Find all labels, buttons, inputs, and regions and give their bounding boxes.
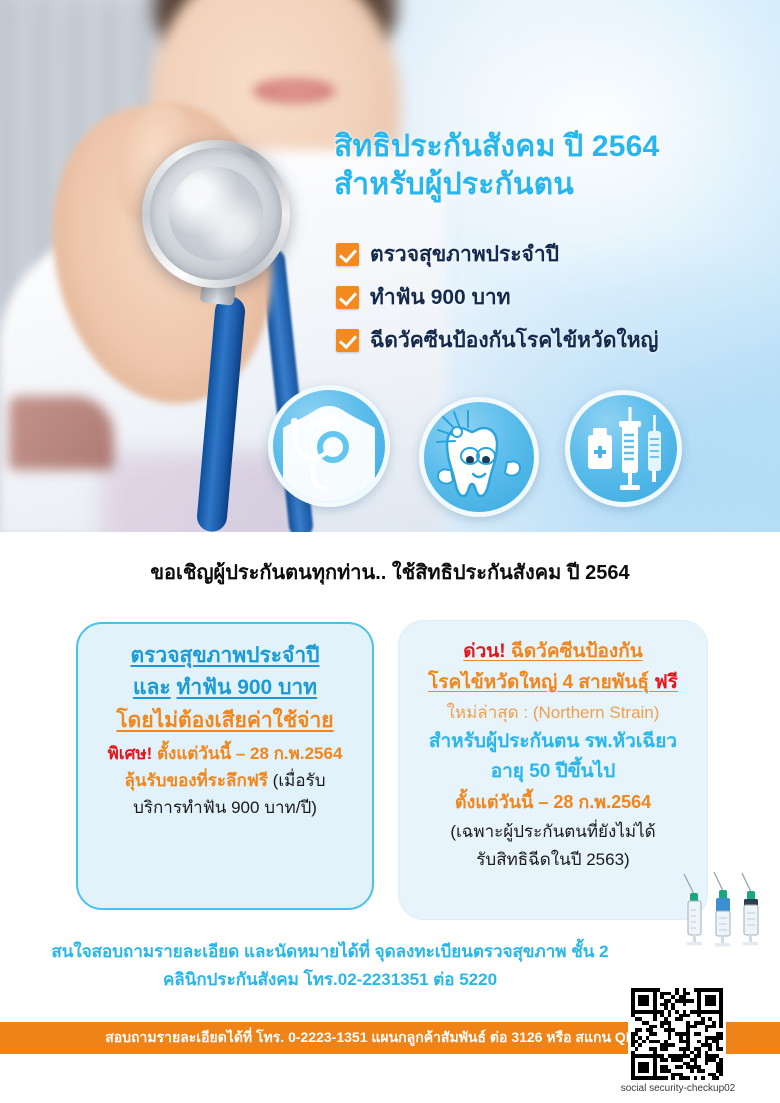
right-card-condition-line2: รับสิทธิฉีดในปี 2563)	[411, 846, 695, 874]
right-card-eligibility-hospital: สำหรับผู้ประกันตน รพ.หัวเฉียว	[411, 727, 695, 757]
left-card-free-note: โดยไม่ต้องเสียค่าใช้จ่าย	[90, 704, 360, 737]
right-card-date-range: ตั้งแต่วันนี้ – 28 ก.พ.2564	[411, 787, 695, 818]
promo-date-range: ตั้งแต่วันนี้ – 28 ก.พ.2564	[157, 744, 342, 763]
qr-code-matrix	[631, 988, 723, 1080]
urgent-badge: ด่วน!	[463, 641, 505, 662]
right-card-eligibility-age: อายุ 50 ปีขึ้นไป	[411, 757, 695, 787]
body-stethoscope-icon	[268, 385, 390, 507]
contact-line-1: สนใจสอบถามรายละเอียด และนัดหมายได้ที่ จุ…	[0, 938, 660, 966]
left-card-promo-period: พิเศษ! ตั้งแต่วันนี้ – 28 ก.พ.2564	[90, 740, 360, 767]
right-card-subtitle: โรคไข้หวัดใหญ่ 4 สายพันธุ์ ฟรี	[411, 667, 695, 698]
left-card-title: ตรวจสุขภาพประจำปี	[90, 640, 360, 671]
flu-vaccine-card: ด่วน! ฉีดวัคซีนป้องกัน โรคไข้หวัดใหญ่ 4 …	[398, 620, 708, 920]
vaccine-syringe-icon	[565, 390, 682, 507]
contact-line-2: คลินิกประกันสังคม โทร.02-2231351 ต่อ 522…	[0, 966, 660, 994]
footer-bar-text: สอบถามรายละเอียดได้ที่ โทร. 0-2223-1351 …	[105, 1027, 675, 1049]
health-checkup-dental-card: ตรวจสุขภาพประจำปี และ ทำฟัน 900 บาท โดยไ…	[76, 622, 374, 910]
qr-code[interactable]	[628, 985, 726, 1083]
left-card-line2-and: และ	[133, 676, 171, 699]
happy-tooth-icon	[419, 397, 539, 517]
left-card-gift-note: ลุ้นรับของที่ระลึกฟรี (เมื่อรับ	[90, 767, 360, 794]
free-badge: ฟรี	[654, 672, 678, 693]
contact-info: สนใจสอบถามรายละเอียด และนัดหมายได้ที่ จุ…	[0, 938, 660, 994]
right-card-condition-line1: (เฉพาะผู้ประกันตนที่ยังไม่ได้	[411, 818, 695, 846]
invitation-line: ขอเชิญผู้ประกันตนทุกท่าน.. ใช้สิทธิประกั…	[0, 556, 780, 588]
vaccine-strain-text: โรคไข้หวัดใหญ่ 4 สายพันธุ์	[428, 672, 649, 693]
left-card-gift-condition: บริการทำฟัน 900 บาท/ปี)	[90, 794, 360, 821]
right-card-title: ด่วน! ฉีดวัคซีนป้องกัน	[411, 637, 695, 667]
left-card-line2-amount: ทำฟัน 900 บาท	[177, 676, 318, 699]
left-card-line2: และ ทำฟัน 900 บาท	[90, 671, 360, 704]
three-syringes-icon	[676, 872, 772, 950]
gift-condition-open: (เมื่อรับ	[273, 771, 326, 790]
service-icon-row	[0, 0, 780, 532]
gift-text: ลุ้นรับของที่ระลึกฟรี	[125, 771, 268, 790]
qr-caption: social security-checkup02	[600, 1083, 756, 1094]
right-card-strain-note: ใหม่ล่าสุด : (Northern Strain)	[411, 698, 695, 727]
right-card-title-rest: ฉีดวัคซีนป้องกัน	[511, 641, 643, 662]
special-badge: พิเศษ!	[108, 744, 153, 763]
